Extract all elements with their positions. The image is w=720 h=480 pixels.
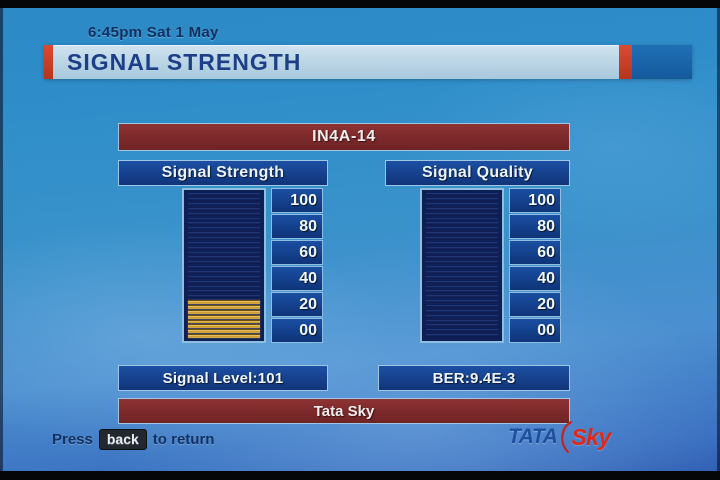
meter-segment [426, 208, 498, 212]
meter-segment [188, 286, 260, 290]
meter-segment [426, 286, 498, 290]
signal-quality-meter: 1008060402000 [420, 188, 561, 343]
scale-cell: 100 [509, 188, 561, 213]
clock-label: 6:45pm Sat 1 May [88, 24, 219, 41]
signal-strength-meter: 1008060402000 [182, 188, 323, 343]
scale-cell: 100 [271, 188, 323, 213]
title-accent-right [619, 45, 632, 79]
meter-segment [188, 300, 260, 304]
meter-segment [188, 232, 260, 236]
meter-segment [188, 247, 260, 251]
scale-value: 40 [537, 270, 555, 288]
ber-value: BER:9.4E-3 [433, 370, 516, 387]
scale-cell: 80 [271, 214, 323, 239]
meter-segment [188, 218, 260, 222]
meter-segment [426, 310, 498, 314]
meter-segment [188, 276, 260, 280]
signal-strength-title-label: Signal Strength [162, 164, 285, 182]
scale-value: 60 [299, 244, 317, 262]
meter-segment [426, 315, 498, 319]
meter-segment [426, 295, 498, 299]
meter-segment [426, 300, 498, 304]
meter-segment [188, 198, 260, 202]
meter-segment [188, 315, 260, 319]
scale-value: 20 [299, 296, 317, 314]
meter-segment [426, 320, 498, 324]
meter-segment [188, 237, 260, 241]
scale-value: 20 [537, 296, 555, 314]
meter-segment [426, 222, 498, 226]
meter-segment [188, 266, 260, 270]
logo-sky-text: Sky [571, 424, 610, 451]
meter-segment [426, 252, 498, 256]
meter-segment [426, 256, 498, 260]
meter-segment [188, 334, 260, 338]
meter-segment [188, 295, 260, 299]
scale-cell: 20 [271, 292, 323, 317]
hint-press-label: Press [52, 431, 93, 448]
meter-segment [188, 203, 260, 207]
meter-segment [426, 281, 498, 285]
letterbox-bar-bottom [0, 471, 720, 480]
meter-segment [188, 252, 260, 256]
ber-box: BER:9.4E-3 [378, 365, 570, 391]
title-accent-left [44, 45, 53, 79]
meter-segment [426, 324, 498, 328]
meter-segment [426, 237, 498, 241]
logo-tata-text: TATA [508, 425, 557, 449]
meter-segment [426, 213, 498, 217]
back-hint: Press back to return [52, 429, 214, 450]
signal-strength-gauge [182, 188, 266, 343]
meter-segment [188, 281, 260, 285]
meter-segment [188, 320, 260, 324]
scale-cell: 00 [271, 318, 323, 343]
meter-segment [188, 290, 260, 294]
meter-segment [188, 242, 260, 246]
transponder-banner: IN4A-14 [118, 123, 570, 151]
signal-strength-scale: 1008060402000 [271, 188, 323, 343]
page-title: SIGNAL STRENGTH [67, 49, 301, 76]
tv-signal-strength-screen: 6:45pm Sat 1 May SIGNAL STRENGTH IN4A-14… [0, 0, 720, 480]
title-end-block [632, 45, 692, 79]
signal-level-value: Signal Level:101 [163, 370, 284, 387]
scale-cell: 60 [271, 240, 323, 265]
meter-segment [426, 329, 498, 333]
meter-segment [188, 227, 260, 231]
meter-segment [188, 213, 260, 217]
scale-value: 40 [299, 270, 317, 288]
scale-value: 100 [290, 192, 317, 210]
meter-segment [426, 290, 498, 294]
provider-label: Tata Sky [314, 403, 375, 420]
meter-segment [426, 227, 498, 231]
scale-cell: 00 [509, 318, 561, 343]
title-bar: SIGNAL STRENGTH [44, 45, 692, 79]
scale-value: 60 [537, 244, 555, 262]
scale-value: 80 [537, 218, 555, 236]
meter-segment [188, 256, 260, 260]
meter-segment [188, 324, 260, 328]
scale-value: 80 [299, 218, 317, 236]
signal-quality-title-label: Signal Quality [422, 164, 533, 182]
back-key-badge[interactable]: back [99, 429, 147, 450]
meter-segment [188, 271, 260, 275]
meter-segment [188, 222, 260, 226]
scale-cell: 20 [509, 292, 561, 317]
meter-segment [426, 305, 498, 309]
letterbox-edge-left [0, 0, 3, 480]
meter-segment [426, 203, 498, 207]
meter-segment [426, 266, 498, 270]
hint-return-label: to return [153, 431, 215, 448]
signal-quality-gauge [420, 188, 504, 343]
meter-segment [426, 276, 498, 280]
meter-segment [188, 310, 260, 314]
meter-segment [426, 247, 498, 251]
scale-cell: 40 [271, 266, 323, 291]
scale-value: 100 [528, 192, 555, 210]
signal-level-box: Signal Level:101 [118, 365, 328, 391]
signal-quality-title: Signal Quality [385, 160, 570, 186]
meter-segment [188, 208, 260, 212]
scale-value: 00 [537, 322, 555, 340]
meter-segment [426, 271, 498, 275]
signal-strength-title: Signal Strength [118, 160, 328, 186]
arc-swoosh-icon [557, 422, 573, 452]
meter-segment [426, 193, 498, 197]
scale-cell: 60 [509, 240, 561, 265]
scale-value: 00 [299, 322, 317, 340]
meter-segment [426, 218, 498, 222]
meter-segment [426, 232, 498, 236]
scale-cell: 80 [509, 214, 561, 239]
tata-sky-logo: TATA Sky [508, 422, 611, 452]
meter-segment [426, 261, 498, 265]
meter-segment [188, 193, 260, 197]
meter-segment [426, 198, 498, 202]
meter-segment [188, 329, 260, 333]
meter-segment [188, 305, 260, 309]
title-bar-body: SIGNAL STRENGTH [53, 45, 619, 79]
meter-segment [426, 334, 498, 338]
letterbox-bar-top [0, 0, 720, 8]
scale-cell: 40 [509, 266, 561, 291]
provider-banner: Tata Sky [118, 398, 570, 424]
transponder-label: IN4A-14 [312, 128, 376, 146]
signal-quality-scale: 1008060402000 [509, 188, 561, 343]
meter-segment [426, 242, 498, 246]
meter-segment [188, 261, 260, 265]
